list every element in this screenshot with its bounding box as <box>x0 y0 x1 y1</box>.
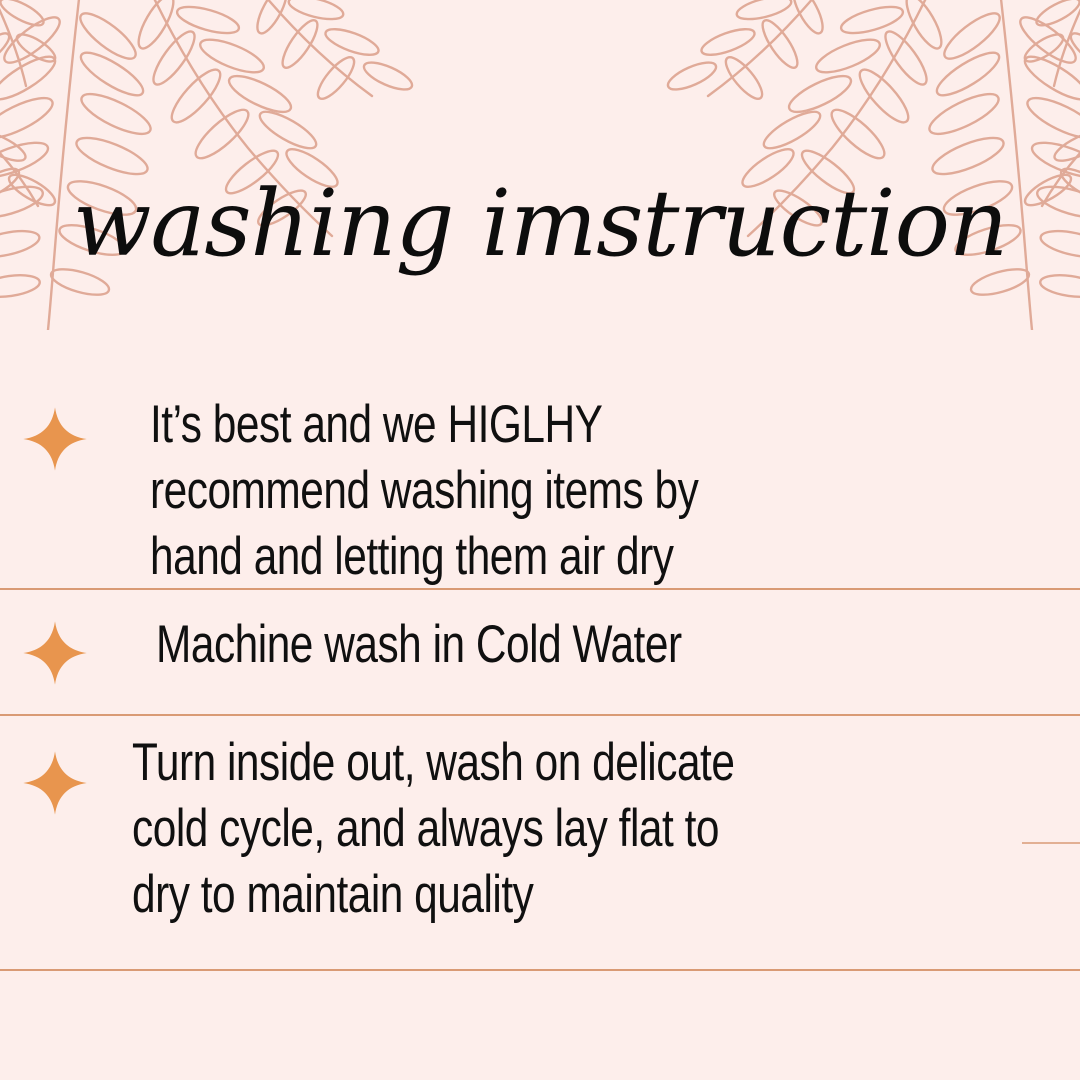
botanical-leaves-top-left-icon <box>0 0 430 330</box>
divider-line-short <box>1022 842 1080 844</box>
instruction-text: Machine wash in Cold Water <box>156 612 895 678</box>
botanical-leaves-top-right-icon <box>650 0 1080 330</box>
four-point-star-icon <box>18 730 92 816</box>
instruction-item: Machine wash in Cold Water <box>0 612 1080 686</box>
divider-line <box>0 969 1080 971</box>
divider-line <box>0 714 1080 716</box>
instruction-text: Turn inside out, wash on delicate cold c… <box>132 730 890 928</box>
four-point-star-icon <box>18 612 92 686</box>
page-title: washing imstruction <box>0 176 1080 273</box>
washing-instruction-card: washing imstruction It’s best and we HIG… <box>0 0 1080 1080</box>
instruction-item: It’s best and we HIGLHY recommend washin… <box>0 392 1080 590</box>
instruction-text: It’s best and we HIGLHY recommend washin… <box>150 392 894 590</box>
divider-line <box>0 588 1080 590</box>
instruction-item: Turn inside out, wash on delicate cold c… <box>0 730 1080 928</box>
four-point-star-icon <box>18 392 92 472</box>
